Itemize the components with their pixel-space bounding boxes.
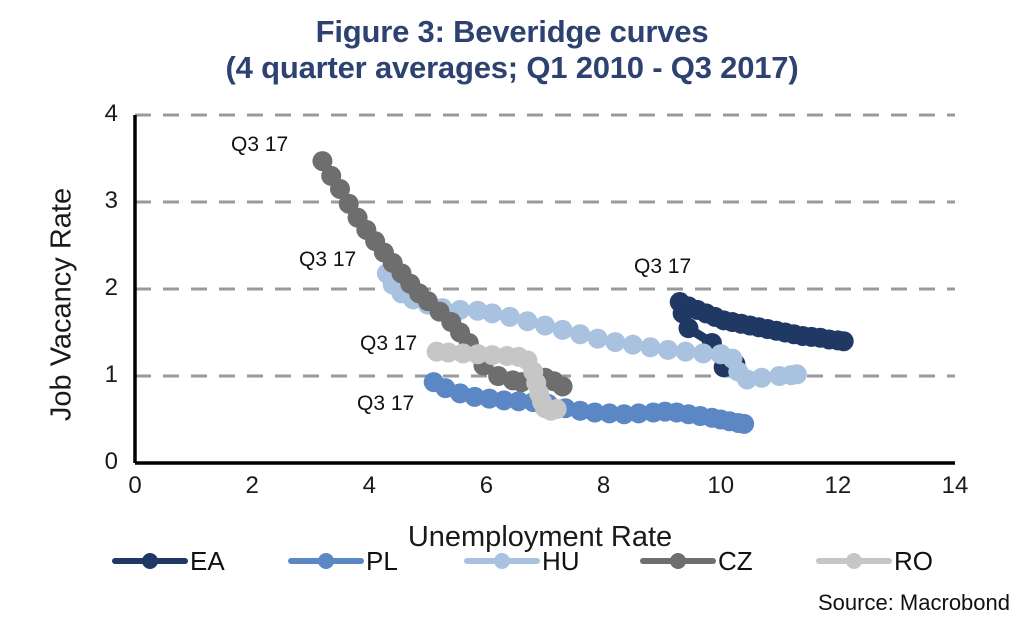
data-point-HU-12: [553, 320, 573, 340]
data-point-HU-17: [640, 337, 660, 357]
legend-dot: [670, 553, 686, 569]
data-point-PL-24: [734, 414, 754, 434]
series-PL: [424, 372, 754, 434]
x-tick-label-0: 0: [105, 472, 165, 500]
data-point-HU-20: [693, 343, 713, 363]
x-tick-label-14: 14: [925, 472, 985, 500]
data-point-HU-28: [787, 364, 807, 384]
legend-item-pl[interactable]: PL: [288, 544, 398, 578]
y-tick-label-4: 4: [84, 100, 118, 128]
x-tick-label-8: 8: [574, 472, 634, 500]
legend-label-cz: CZ: [718, 546, 753, 577]
legend-label-ro: RO: [894, 546, 933, 577]
y-tick-label-3: 3: [84, 187, 118, 215]
data-point-HU-19: [676, 342, 696, 362]
annotation-q3-17-ro: Q3 17: [360, 332, 417, 356]
y-tick-label-1: 1: [84, 361, 118, 389]
source-note: Source: Macrobond: [818, 590, 1010, 616]
data-point-HU-9: [500, 307, 520, 327]
x-tick-label-4: 4: [339, 472, 399, 500]
legend-item-ea[interactable]: EA: [112, 544, 225, 578]
legend-dot: [318, 553, 334, 569]
legend-swatch-hu-icon: [464, 544, 540, 578]
legend-item-hu[interactable]: HU: [464, 544, 580, 578]
legend-swatch-ro-icon: [816, 544, 892, 578]
legend-swatch-pl-icon: [288, 544, 364, 578]
data-point-CZ-25: [553, 376, 573, 396]
y-tick-label-2: 2: [84, 274, 118, 302]
y-axis-title: Job Vacancy Rate: [46, 125, 79, 485]
legend-swatch-ea-icon: [112, 544, 188, 578]
annotation-q3-17-hu: Q3 17: [299, 248, 356, 272]
data-point-HU-25: [752, 368, 772, 388]
legend-dot: [142, 553, 158, 569]
legend-swatch-cz-icon: [640, 544, 716, 578]
series-EA: [670, 292, 854, 377]
chart-legend: EAPLHUCZRO: [112, 544, 942, 578]
legend-label-ea: EA: [190, 546, 225, 577]
data-point-HU-13: [570, 324, 590, 344]
annotation-q3-17-pl: Q3 17: [357, 392, 414, 416]
x-tick-label-10: 10: [691, 472, 751, 500]
y-tick-label-0: 0: [84, 448, 118, 476]
legend-item-ro[interactable]: RO: [816, 544, 933, 578]
data-point-HU-8: [482, 303, 502, 323]
data-point-HU-18: [658, 340, 678, 360]
x-tick-label-6: 6: [456, 472, 516, 500]
legend-dot: [846, 553, 862, 569]
data-point-HU-11: [535, 316, 555, 336]
annotation-q3-17-ea: Q3 17: [634, 255, 691, 279]
legend-label-hu: HU: [542, 546, 580, 577]
data-point-HU-10: [517, 311, 537, 331]
data-point-EA-26: [834, 331, 854, 351]
figure-root: Figure 3: Beveridge curves (4 quarter av…: [0, 0, 1024, 633]
data-point-HU-16: [623, 335, 643, 355]
x-tick-label-12: 12: [808, 472, 868, 500]
legend-dot: [494, 553, 510, 569]
legend-item-cz[interactable]: CZ: [640, 544, 753, 578]
data-point-HU-14: [588, 329, 608, 349]
data-point-HU-15: [605, 332, 625, 352]
annotation-q3-17-cz: Q3 17: [231, 133, 288, 157]
legend-label-pl: PL: [366, 546, 398, 577]
data-point-RO-14: [547, 399, 567, 419]
x-tick-label-2: 2: [222, 472, 282, 500]
